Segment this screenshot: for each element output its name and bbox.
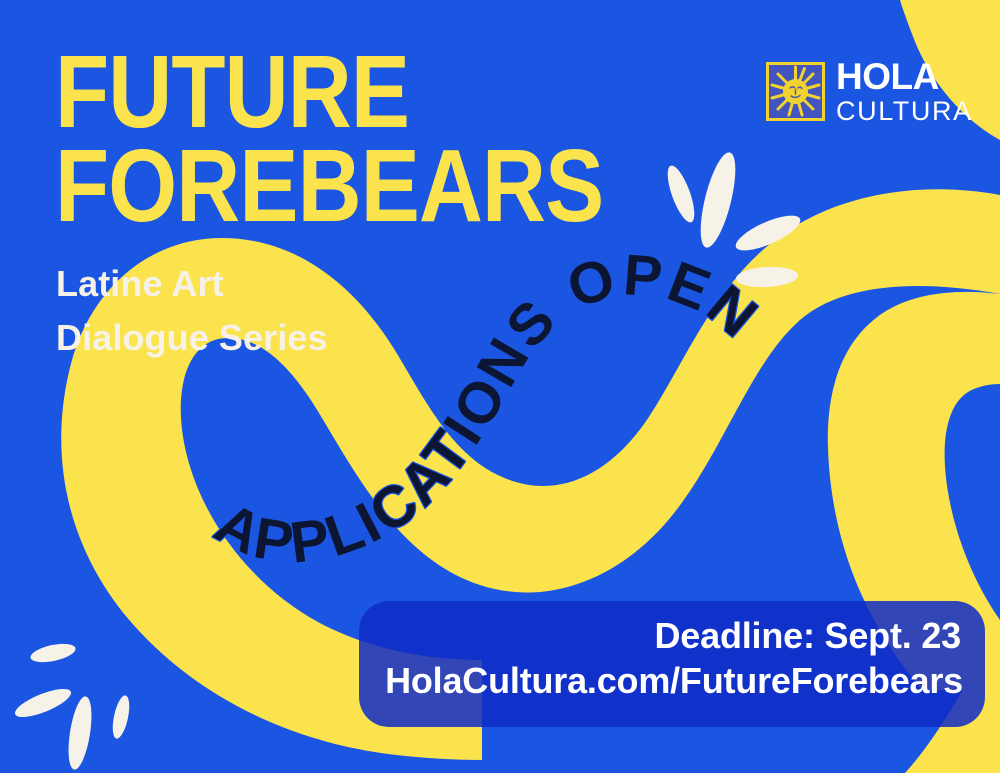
logo-name-secondary: CULTURA (836, 98, 973, 125)
logo-name-primary: HOLA (836, 58, 973, 95)
poster-canvas: APPLICATIONS OPEN FUTURE FOREBEARS Latin… (0, 0, 1000, 773)
logo-wordmark: HOLA CULTURA (836, 58, 973, 125)
deadline-text: Deadline: Sept. 23 (655, 615, 962, 657)
hola-cultura-logo: HOLA CULTURA (766, 58, 973, 125)
application-url[interactable]: HolaCultura.com/FutureForebears (385, 660, 963, 702)
subtitle-line-1: Latine Art (56, 266, 224, 302)
call-to-action-banner: Deadline: Sept. 23 HolaCultura.com/Futur… (359, 601, 985, 727)
page-title-line-2: FOREBEARS (55, 140, 603, 233)
sun-icon (766, 62, 825, 121)
subtitle-line-2: Dialogue Series (56, 320, 328, 356)
page-title-line-1: FUTURE (55, 46, 409, 139)
